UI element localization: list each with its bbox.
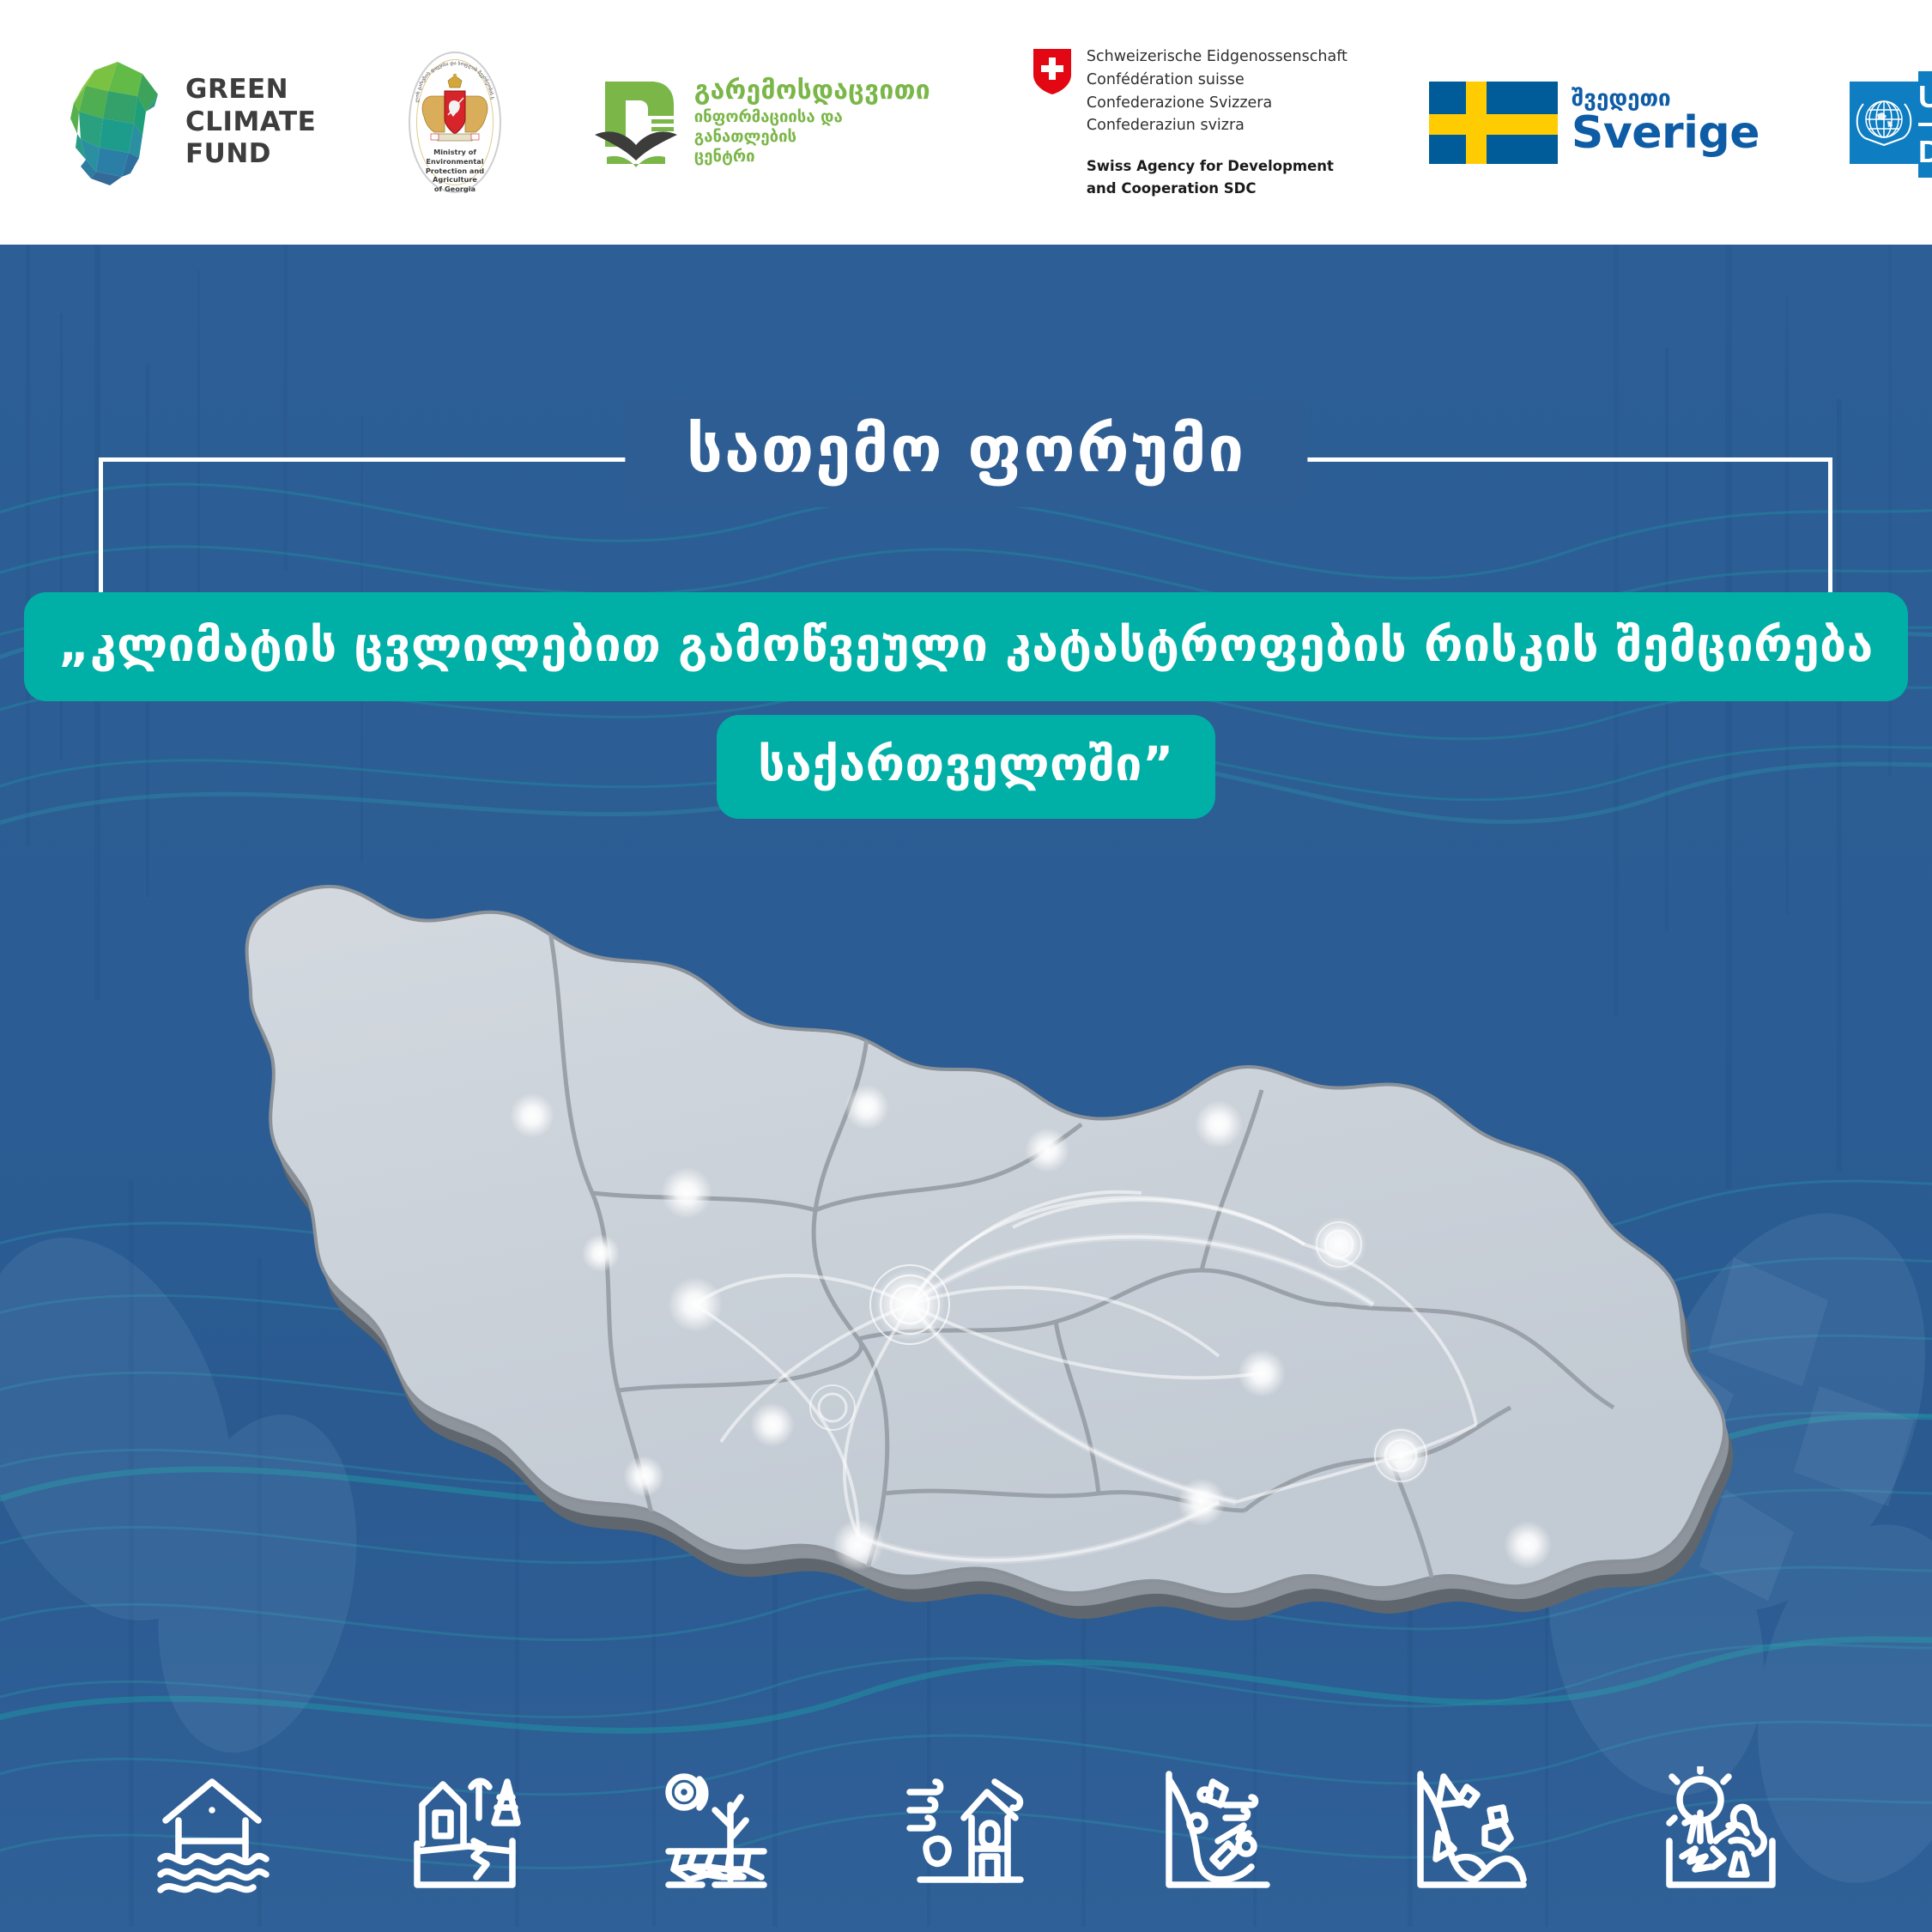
map-of-georgia	[0, 824, 1932, 1734]
avalanche-icon	[1154, 1766, 1282, 1895]
eiec-wordmark: გარემოსდაცვითი ინფორმაციისა და განათლები…	[694, 78, 930, 167]
swiss-wordmark: Schweizerische Eidgenossenschaft Confédé…	[1087, 45, 1348, 198]
headline-line2: საქართველოში”	[717, 715, 1215, 819]
headline-row-2: საქართველოში”	[0, 701, 1932, 819]
eiec-line2: ინფორმაციისა და განათლების	[694, 107, 930, 147]
swiss-line-de: Schweizerische Eidgenossenschaft	[1087, 45, 1348, 69]
forum-title-text: სათემო ფორუმი	[687, 418, 1245, 481]
storm-wind-icon	[902, 1766, 1031, 1895]
gcf-wordmark: GREEN CLIMATE FUND	[185, 74, 316, 171]
eiec-line3: ცენტრი	[694, 147, 930, 167]
earthquake-icon	[399, 1766, 528, 1895]
open-book-leaf-icon	[591, 75, 684, 171]
georgian-coat-of-arms-icon	[410, 74, 500, 146]
seal-sub-line2: Protection and Agriculture	[409, 167, 500, 185]
united-nations-emblem-icon	[1850, 82, 1918, 164]
seal-sub-line1: Ministry of Environmental	[409, 148, 500, 167]
undp-letter-d: D	[1918, 126, 1932, 178]
drought-icon	[651, 1766, 779, 1895]
swiss-confederation-sdc-logo: Schweizerische Eidgenossenschaft Confédé…	[1032, 45, 1348, 198]
project-headline: „კლიმატის ცვლილებით გამოწვეული კატასტროფ…	[0, 592, 1932, 819]
ministry-of-environment-seal: საქართველოს გარემოს დაცვისა და სოფლის მე…	[409, 51, 500, 193]
georgia-landmass	[247, 887, 1725, 1595]
sweden-wordmark: შვედეთი Sverige	[1572, 88, 1759, 156]
swiss-shield-icon	[1032, 47, 1073, 95]
polygon-globe-icon	[67, 58, 168, 187]
sweden-latin-label: Sverige	[1572, 110, 1759, 156]
undp-logo: U N D P	[1850, 68, 1932, 178]
georgia-map-svg	[0, 824, 1932, 1734]
swiss-line-rm: Confederaziun svizra	[1087, 114, 1348, 137]
swiss-line-fr: Confédération suisse	[1087, 69, 1348, 92]
landslide-icon	[1405, 1766, 1534, 1895]
flag-horizontal-bar	[1429, 114, 1558, 135]
poster-root: GREEN CLIMATE FUND საქართველოს გარემოს დ…	[0, 0, 1932, 1932]
gcf-line2: CLIMATE	[185, 106, 316, 139]
flood-icon	[148, 1766, 276, 1895]
seal-subtitle: Ministry of Environmental Protection and…	[409, 148, 500, 194]
sdc-line2: and Cooperation SDC	[1087, 179, 1348, 199]
gcf-line3: FUND	[185, 138, 316, 171]
swiss-line-it: Confederazione Svizzera	[1087, 92, 1348, 115]
headline-row-1: „კლიმატის ცვლილებით გამოწვეული კატასტროფ…	[0, 592, 1932, 701]
seal-sub-line3: of Georgia	[409, 185, 500, 194]
undp-letter-grid: U N D P	[1918, 71, 1932, 178]
headline-line1: „კლიმატის ცვლილებით გამოწვეული კატასტროფ…	[24, 592, 1908, 701]
donor-logo-bar: GREEN CLIMATE FUND საქართველოს გარემოს დ…	[0, 0, 1932, 245]
disaster-type-icon-row	[0, 1753, 1932, 1908]
swedish-flag-icon	[1429, 82, 1558, 164]
sweden-sverige-logo: შვედეთი Sverige	[1429, 82, 1759, 164]
forum-title-badge: სათემო ფორუმი	[625, 397, 1307, 507]
gcf-line1: GREEN	[185, 74, 316, 106]
sdc-line1: Swiss Agency for Development	[1087, 156, 1348, 177]
undp-letter-u: U	[1918, 71, 1932, 123]
environmental-information-education-center-logo: გარემოსდაცვითი ინფორმაციისა და განათლები…	[591, 75, 930, 171]
wildfire-icon	[1656, 1766, 1785, 1895]
eiec-line1: გარემოსდაცვითი	[694, 78, 930, 104]
green-climate-fund-logo: GREEN CLIMATE FUND	[67, 58, 316, 187]
